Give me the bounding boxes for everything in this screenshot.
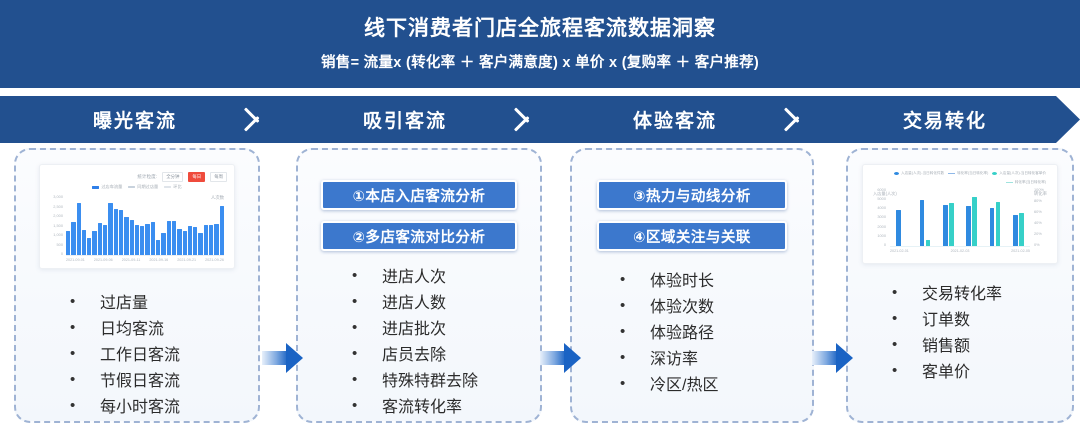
bar	[119, 210, 123, 255]
chart-legend: 入店量(人次)-当日转化件数 转化率(当日转化率) 入店量(人次)-当日转化客单…	[870, 171, 1050, 185]
bar-group	[966, 187, 977, 246]
y-tick: 1,000	[53, 232, 63, 237]
y-tick: 3,000	[53, 194, 63, 199]
button-zone-attention-analysis[interactable]: ④区域关注与关联	[597, 221, 787, 251]
stage-label: 交易转化	[903, 106, 987, 133]
arrow-connector-1	[262, 343, 304, 373]
list-item: 进店人次	[352, 265, 540, 291]
y-tick: 6000	[877, 187, 886, 192]
y-tick-right: 20%	[1034, 231, 1042, 236]
list-item: 过店量	[70, 291, 258, 317]
metric-list-attraction: 进店人次 进店人数 进店批次 店员去除 特殊特群去除 客流转化率	[298, 265, 540, 420]
bar	[204, 225, 208, 255]
bar	[177, 229, 181, 255]
button-multi-store-compare[interactable]: ②多店客流对比分析	[321, 221, 517, 251]
stage-attraction[interactable]: 吸引客流	[270, 96, 540, 143]
list-item: 工作日客流	[70, 343, 258, 369]
arrow-shaft	[262, 351, 288, 365]
chart-plot-area: 3,000 2,500 2,000 1,500 1,000 500 0	[47, 194, 227, 256]
bar-series	[66, 194, 224, 256]
metric-list-conversion: 交易转化率 订单数 销售额 客单价	[848, 282, 1072, 386]
bar-conversion	[1019, 213, 1024, 246]
granularity-option-week[interactable]: 每周	[210, 172, 227, 182]
y-axis-ticks-right: 100% 80% 60% 40% 20% 0%	[1032, 187, 1050, 247]
bar-conversion	[926, 240, 931, 246]
stage-conversion[interactable]: 交易转化	[810, 96, 1080, 143]
bar	[145, 224, 149, 255]
list-item: 节假日客流	[70, 369, 258, 395]
button-store-entry-analysis[interactable]: ①本店入店客流分析	[321, 180, 517, 210]
y-tick: 2000	[877, 224, 886, 229]
bar-group	[920, 187, 931, 246]
bar	[98, 223, 102, 255]
legend-item-rate-2[interactable]: 转化率(当日转化率)	[1006, 180, 1046, 185]
page-header: 线下消费者门店全旅程客流数据洞察 销售= 流量x (转化率 ＋ 客户满意度) x…	[0, 0, 1080, 88]
panel-experience: ③热力与动线分析 ④区域关注与关联 体验时长 体验次数 体验路径 深访率 冷区/…	[570, 148, 814, 423]
bar	[130, 220, 134, 255]
bar	[214, 224, 218, 255]
arrow-shaft	[812, 351, 838, 365]
bar	[209, 225, 213, 255]
legend-swatch-icon	[948, 173, 955, 174]
analysis-button-stack: ①本店入店客流分析 ②多店客流对比分析	[298, 180, 540, 251]
list-item: 交易转化率	[892, 282, 1072, 308]
bar	[124, 217, 128, 255]
stage-experience[interactable]: 体验客流	[540, 96, 810, 143]
panel-row: 统计粒度: 全分钟 每日 每周 过店车流量 同期过店量 环比 人次数 3,000…	[0, 143, 1080, 438]
bar	[151, 222, 155, 255]
y-axis-ticks-left: 6000 5000 4000 3000 2000 1000 0	[870, 187, 888, 247]
y-tick: 0	[61, 251, 63, 256]
bar	[156, 240, 160, 255]
bar	[183, 231, 187, 255]
legend-item-traffic[interactable]: 过店车流量	[92, 184, 122, 190]
y-tick-right: 100%	[1034, 187, 1044, 192]
legend-item-conversion[interactable]: 入店量(人次)-当日转化客单价	[992, 171, 1046, 176]
legend-label: 过店车流量	[101, 184, 122, 190]
bar-entry	[990, 208, 995, 246]
y-tick: 0	[884, 242, 886, 247]
y-tick: 5000	[877, 196, 886, 201]
granularity-option-day[interactable]: 每日	[188, 172, 205, 182]
bar	[161, 233, 165, 255]
stage-label: 吸引客流	[363, 106, 447, 133]
chart-legend: 过店车流量 同期过店量 环比	[47, 182, 227, 192]
panel-attraction: ①本店入店客流分析 ②多店客流对比分析 进店人次 进店人数 进店批次 店员去除 …	[296, 148, 542, 423]
legend-label: 入店量(人次)-当日转化件数	[901, 171, 944, 176]
arrow-head-icon	[286, 343, 303, 373]
stage-label: 曝光客流	[93, 106, 177, 133]
legend-item-entry[interactable]: 入店量(人次)-当日转化件数	[894, 171, 944, 176]
bar-conversion	[972, 197, 977, 246]
panel-exposure: 统计粒度: 全分钟 每日 每周 过店车流量 同期过店量 环比 人次数 3,000…	[14, 148, 260, 423]
x-tick: 2021-02-03	[951, 249, 970, 253]
legend-swatch-icon	[1006, 182, 1013, 183]
infographic-page: 线下消费者门店全旅程客流数据洞察 销售= 流量x (转化率 ＋ 客户满意度) x…	[0, 0, 1080, 438]
granularity-label: 统计粒度:	[137, 174, 157, 180]
legend-item-mom[interactable]: 环比	[164, 184, 181, 190]
bar-conversion	[949, 203, 954, 246]
y-tick: 4000	[877, 205, 886, 210]
x-axis-ticks: 2021-02-01 2021-02-03 2021-02-05	[870, 249, 1050, 253]
y-tick-right: 40%	[1034, 220, 1042, 225]
x-tick: 2021-09-26	[205, 258, 224, 262]
list-item: 体验次数	[620, 295, 812, 321]
bar-entry	[943, 205, 948, 246]
bar-entry	[920, 200, 925, 246]
list-item: 体验时长	[620, 269, 812, 295]
chart-thumbnail-store-traffic[interactable]: 统计粒度: 全分钟 每日 每周 过店车流量 同期过店量 环比 人次数 3,000…	[39, 164, 235, 269]
chevron-right-icon	[241, 96, 271, 143]
list-item: 进店人数	[352, 291, 540, 317]
chevron-right-icon	[781, 96, 811, 143]
legend-swatch-icon	[992, 172, 997, 175]
y-tick: 500	[57, 242, 64, 247]
page-title: 线下消费者门店全旅程客流数据洞察	[364, 16, 716, 41]
arrow-shaft	[540, 351, 566, 365]
arrow-head-icon	[564, 343, 581, 373]
arrow-connector-2	[540, 343, 582, 373]
list-item: 客流转化率	[352, 395, 540, 421]
y-tick-right: 60%	[1034, 209, 1042, 214]
legend-item-yoy[interactable]: 同期过店量	[128, 184, 158, 190]
legend-label: 同期过店量	[137, 184, 158, 190]
bar	[135, 225, 139, 255]
bar	[198, 233, 202, 255]
chevron-right-icon	[511, 96, 541, 143]
y-tick: 1000	[877, 233, 886, 238]
bar	[167, 221, 171, 255]
list-item: 订单数	[892, 308, 1072, 334]
list-item: 客单价	[892, 360, 1072, 386]
bar-entry	[966, 206, 971, 246]
chart-plot-area: 6000 5000 4000 3000 2000 1000 0 100% 80%…	[870, 187, 1050, 247]
legend-swatch-icon	[894, 172, 899, 175]
metric-list-exposure: 过店量 日均客流 工作日客流 节假日客流 每小时客流	[16, 291, 258, 421]
x-tick: 2021-09-11	[122, 258, 141, 262]
bar	[66, 231, 70, 255]
bar-entry	[896, 210, 901, 246]
legend-swatch-icon	[128, 186, 135, 187]
y-axis-ticks: 3,000 2,500 2,000 1,500 1,000 500 0	[47, 194, 65, 256]
stage-banner: 曝光客流 吸引客流 体验客流 交易转化	[0, 96, 1080, 143]
button-heatmap-route-analysis[interactable]: ③热力与动线分析	[597, 180, 787, 210]
analysis-button-stack: ③热力与动线分析 ④区域关注与关联	[572, 180, 812, 251]
y-tick: 2,000	[53, 213, 63, 218]
bar-group	[1013, 187, 1024, 246]
bar-conversion	[996, 202, 1001, 246]
stage-exposure[interactable]: 曝光客流	[0, 96, 270, 143]
bar	[188, 226, 192, 255]
x-tick: 2021-09-16	[149, 258, 168, 262]
x-tick: 2021-09-06	[94, 258, 113, 262]
list-item: 进店批次	[352, 317, 540, 343]
list-item: 店员去除	[352, 343, 540, 369]
bar-group	[943, 187, 954, 246]
list-item: 每小时客流	[70, 395, 258, 421]
header-formula: 销售= 流量x (转化率 ＋ 客户满意度) x 单价 x (复购率 ＋ 客户推荐…	[321, 51, 759, 72]
y-tick-right: 0%	[1034, 242, 1040, 247]
x-tick: 2021-02-05	[1011, 249, 1030, 253]
y-tick: 1,500	[53, 223, 63, 228]
legend-swatch-icon	[92, 186, 99, 189]
bar-group	[990, 187, 1001, 246]
bar-group	[896, 187, 907, 246]
chart-thumbnail-conversion[interactable]: 入店量(人次)-当日转化件数 转化率(当日转化率) 入店量(人次)-当日转化客单…	[862, 164, 1058, 264]
legend-label: 入店量(人次)-当日转化客单价	[999, 171, 1046, 176]
x-axis-ticks: 2021-09-01 2021-09-06 2021-09-11 2021-09…	[47, 258, 227, 262]
bar-entry	[1013, 215, 1018, 246]
bar	[103, 225, 107, 255]
x-tick: 2021-09-01	[66, 258, 85, 262]
panel-conversion: 入店量(人次)-当日转化件数 转化率(当日转化率) 入店量(人次)-当日转化客单…	[846, 148, 1074, 423]
stage-label: 体验客流	[633, 106, 717, 133]
bar	[92, 231, 96, 255]
list-item: 日均客流	[70, 317, 258, 343]
list-item: 体验路径	[620, 321, 812, 347]
legend-item-rate-1[interactable]: 转化率(当日转化率)	[948, 171, 988, 176]
bar	[140, 226, 144, 255]
bar	[193, 227, 197, 255]
chart-toolbar: 统计粒度: 全分钟 每日 每周	[47, 171, 227, 182]
arrow-connector-3	[812, 343, 854, 373]
legend-label: 转化率(当日转化率)	[957, 171, 988, 176]
y-tick: 3000	[877, 214, 886, 219]
list-item: 销售额	[892, 334, 1072, 360]
list-item: 特殊特群去除	[352, 369, 540, 395]
bar	[77, 203, 81, 255]
metric-list-experience: 体验时长 体验次数 体验路径 深访率 冷区/热区	[572, 269, 812, 399]
legend-swatch-icon	[164, 186, 171, 187]
x-tick: 2021-09-21	[177, 258, 196, 262]
grouped-bar-series	[890, 187, 1030, 247]
arrow-head-icon	[836, 343, 853, 373]
bar	[172, 221, 176, 255]
y-tick: 2,500	[53, 204, 63, 209]
bar	[114, 209, 118, 255]
bar	[220, 206, 224, 255]
bar	[108, 203, 112, 255]
granularity-option-minute[interactable]: 全分钟	[162, 172, 183, 182]
legend-label: 环比	[173, 184, 181, 190]
x-tick: 2021-02-01	[890, 249, 909, 253]
list-item: 深访率	[620, 347, 812, 373]
list-item: 冷区/热区	[620, 373, 812, 399]
y-tick-right: 80%	[1034, 198, 1042, 203]
bar	[87, 238, 91, 255]
bar	[71, 222, 75, 255]
legend-label: 转化率(当日转化率)	[1015, 180, 1046, 185]
bar	[82, 230, 86, 255]
